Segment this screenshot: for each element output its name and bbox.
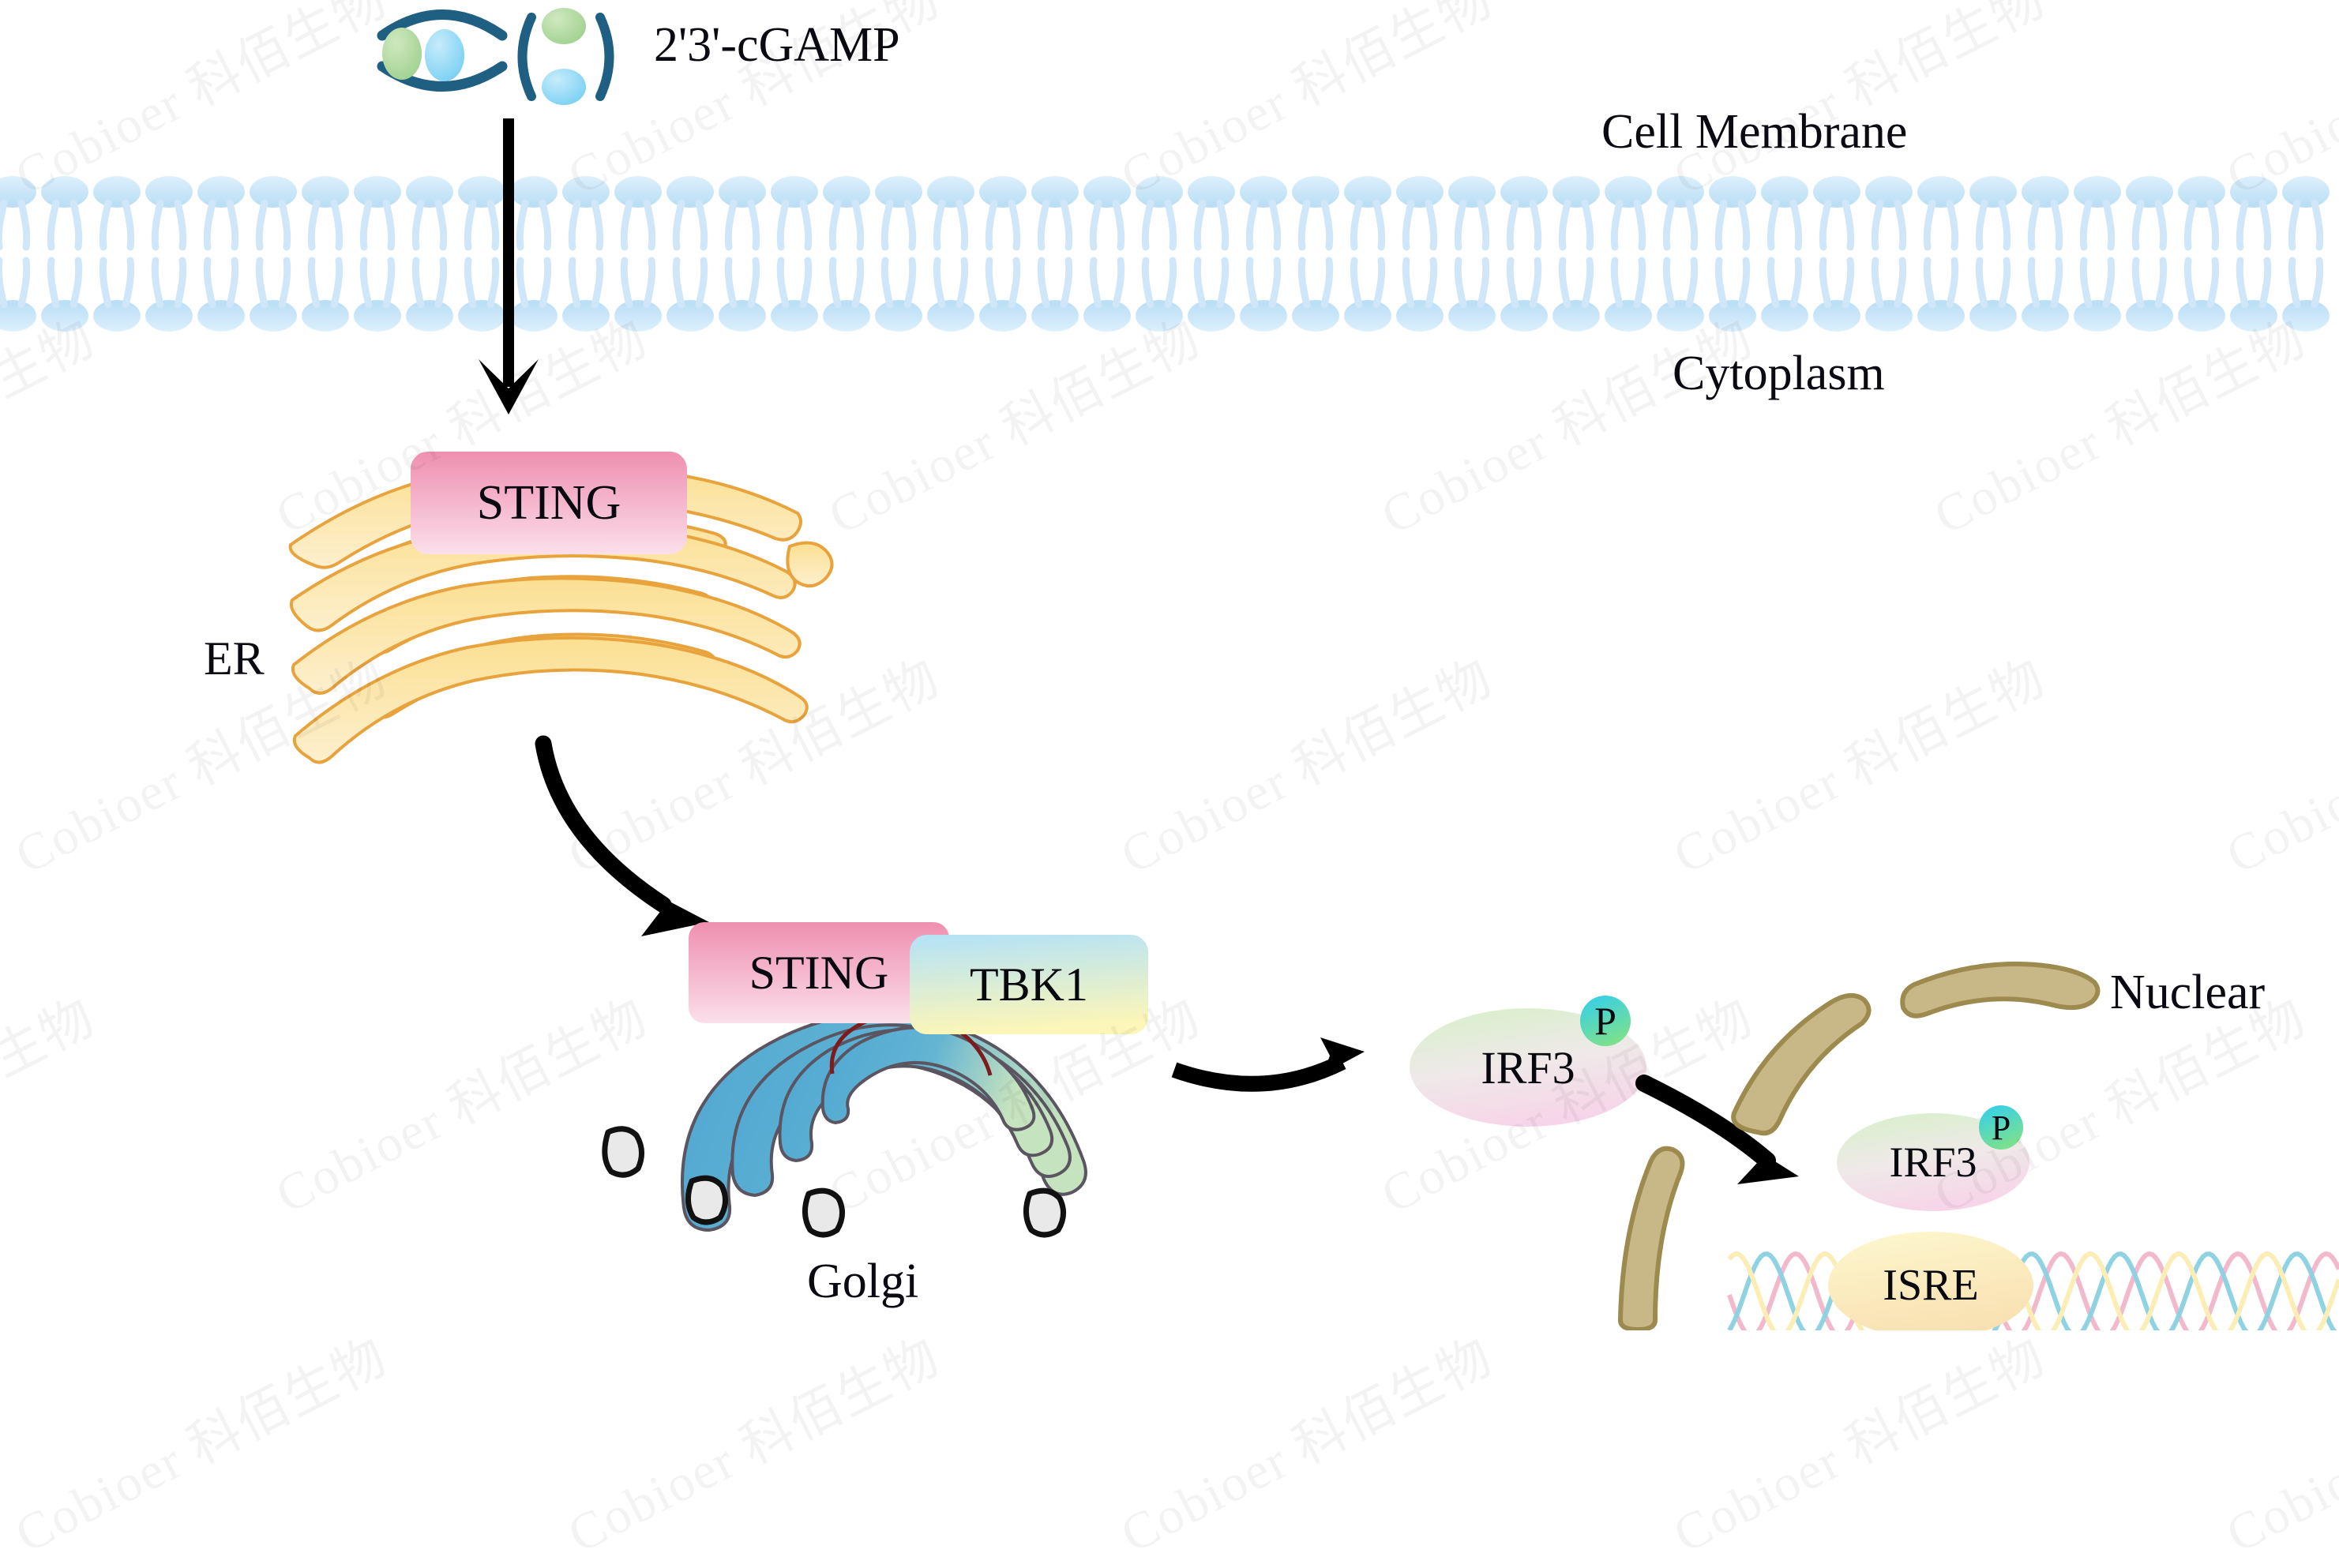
tbk1-box[interactable] <box>910 935 1148 1034</box>
arrow-golgi-to-irf3 <box>1174 1037 1365 1084</box>
nuclear-label: Nuclear <box>2110 965 2265 1021</box>
watermark-text: Cobioer 科佰生物 <box>2211 1315 2339 1567</box>
cell-membrane-label: Cell Membrane <box>1601 104 1907 160</box>
er-label: ER <box>204 632 265 686</box>
cytoplasm-label: Cytoplasm <box>1673 346 1885 402</box>
watermark-text: Cobioer 科佰生物 <box>1658 1315 2056 1567</box>
cgamp-molecule-icon <box>382 8 610 105</box>
golgi-vesicles <box>605 1129 1064 1235</box>
phospho-group-cytoplasmic <box>1580 996 1631 1046</box>
isre-element <box>1828 1232 2033 1330</box>
watermark-text: Cobioer 科佰生物 <box>553 1315 951 1567</box>
cgamp-label: 2'3'-cGAMP <box>654 17 900 73</box>
golgi-organelle <box>682 1014 1086 1230</box>
pathway-diagram-canvas: 2'3'-cGAMP Cell Membrane Cytoplasm ER Go… <box>0 0 2339 1330</box>
cell-membrane-bilayer <box>0 176 2330 332</box>
sting-er-box[interactable] <box>411 452 687 554</box>
watermark-text: Cobioer 科佰生物 <box>1106 1315 1504 1567</box>
arrow-er-to-golgi <box>543 744 709 936</box>
arrow-cgamp-to-sting <box>479 118 539 415</box>
phospho-group-nuclear <box>1979 1105 2023 1150</box>
golgi-label: Golgi <box>807 1254 918 1310</box>
dna-strands <box>1729 1254 2339 1330</box>
diagram-svg <box>0 0 2339 1330</box>
watermark-text: Cobioer 科佰生物 <box>0 1315 398 1567</box>
